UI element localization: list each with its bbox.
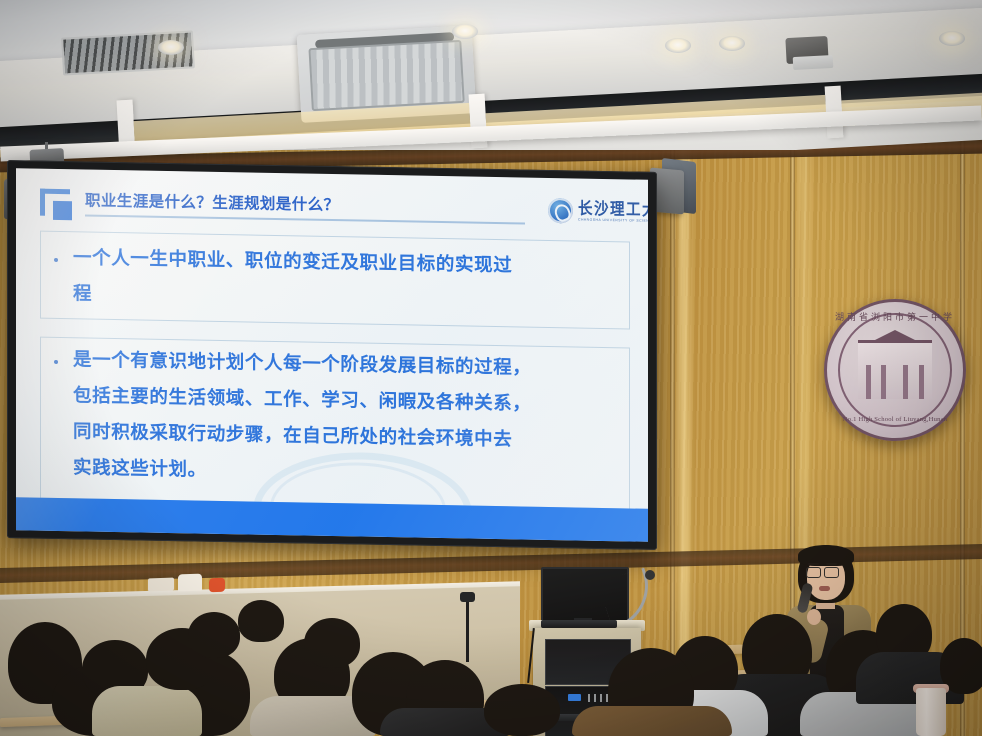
emblem-building-icon <box>858 340 932 399</box>
audience-head <box>304 618 360 668</box>
emblem-chinese-text: 湖南省浏阳市第一中学 <box>827 310 963 323</box>
audience-hood <box>572 706 732 736</box>
slide-textbox-1: 一个人一生中职业、职位的变迁及职业目标的实现过 程 <box>40 231 630 330</box>
emblem-english-text: No.1 High School of Liuyang,Hunan <box>827 416 963 423</box>
ceiling-spotlight <box>719 36 745 51</box>
glasses-icon <box>824 567 839 578</box>
university-name-en: CHANGSHA UNIVERSITY OF SCIENCE & TECHNOL… <box>578 218 648 224</box>
podium-keyboard[interactable] <box>541 620 617 628</box>
bullet-marker <box>54 258 58 262</box>
university-logo: 长沙理工大学 CHANGSHA UNIVERSITY OF SCIENCE & … <box>548 196 648 228</box>
lecture-hall-photo: 湖南省浏阳市第一中学 No.1 High School of Liuyang,H… <box>0 0 982 736</box>
amplifier-display <box>568 694 581 701</box>
square-icon <box>53 201 72 220</box>
audience-head <box>188 612 240 658</box>
university-seal-icon <box>548 198 573 223</box>
paper-cup <box>916 688 946 736</box>
stage-item-paper <box>148 578 174 592</box>
presenter-mouth <box>819 586 830 591</box>
stage-item-cup <box>178 574 202 592</box>
audience-head <box>238 600 284 642</box>
presentation-slide[interactable]: 职业生涯是什么？生涯规划是什么？ 长沙理工大学 CHANGSHA UNIVERS… <box>16 168 648 542</box>
ac-grille <box>308 40 464 111</box>
school-emblem: 湖南省浏阳市第一中学 No.1 High School of Liuyang,H… <box>824 299 966 441</box>
ceiling-spotlight <box>665 38 691 53</box>
slide-title-row: 职业生涯是什么？生涯规划是什么？ 长沙理工大学 CHANGSHA UNIVERS… <box>40 187 632 234</box>
projection-screen-bezel: 职业生涯是什么？生涯规划是什么？ 长沙理工大学 CHANGSHA UNIVERS… <box>7 160 657 550</box>
audience-head <box>484 684 560 736</box>
audience-body <box>92 686 202 736</box>
presenter-eyebrow <box>826 563 837 565</box>
slide-title: 职业生涯是什么？生涯规划是什么？ <box>85 188 339 215</box>
ceiling-spotlight <box>939 31 965 46</box>
bullet-marker <box>54 360 58 364</box>
stage-item-red-object <box>209 578 225 593</box>
ceiling-spotlight <box>452 24 478 39</box>
microphone-head-icon <box>645 570 655 580</box>
stage-microphone <box>466 600 469 662</box>
glasses-icon <box>806 567 821 578</box>
presenter-hand <box>807 609 821 625</box>
title-underline <box>85 214 525 224</box>
slide-textbox-2: 是一个有意识地计划个人每一个阶段发展目标的过程， 包括主要的生活领域、工作、学习… <box>40 337 630 510</box>
ceiling-spotlight <box>158 40 184 55</box>
presenter-eyebrow <box>808 563 819 565</box>
projector-plate <box>793 55 834 70</box>
